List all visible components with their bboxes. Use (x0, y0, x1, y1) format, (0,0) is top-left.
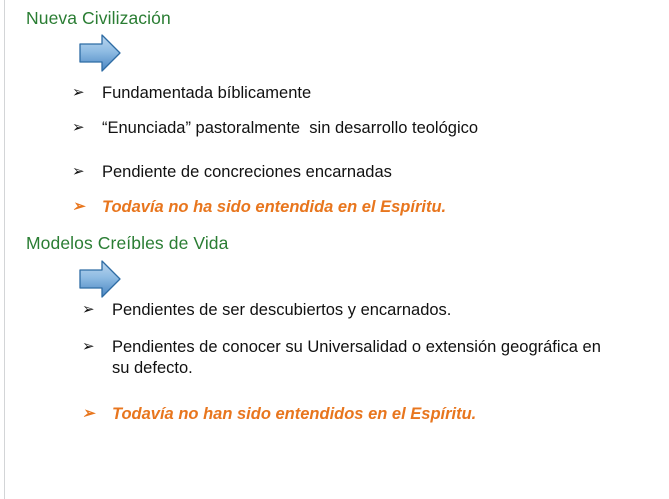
bullet-item: ➢ Fundamentada bíblicamente (72, 83, 632, 104)
arrowhead-bullet-icon: ➢ (72, 197, 102, 217)
section-heading-modelos-creibles-de-vida: Modelos Creíbles de Vida (26, 234, 228, 253)
right-arrow-icon-2 (78, 258, 122, 300)
bullet-item: ➢ Pendientes de ser descubiertos y encar… (82, 300, 642, 321)
bullet-text: Pendientes de ser descubiertos y encarna… (112, 300, 642, 321)
arrowhead-bullet-icon: ➢ (72, 118, 102, 138)
bullet-item-accent: ➢ Todavía no ha sido entendida en el Esp… (72, 197, 632, 218)
bullet-text: Pendiente de concreciones encarnadas (102, 162, 632, 183)
bullet-text: Pendientes de conocer su Universalidad o… (112, 337, 612, 379)
bullet-item: ➢ Pendientes de conocer su Universalidad… (82, 337, 612, 379)
bullet-item: ➢ “Enunciada” pastoralmente sin desarrol… (72, 118, 652, 139)
bullet-text: Fundamentada bíblicamente (102, 83, 632, 104)
bullet-text: “Enunciada” pastoralmente sin desarrollo… (102, 118, 652, 139)
left-edge-rule (4, 0, 5, 499)
bullet-text: Todavía no ha sido entendida en el Espír… (102, 197, 632, 218)
arrowhead-bullet-icon: ➢ (82, 337, 112, 357)
arrowhead-bullet-icon: ➢ (72, 162, 102, 182)
slide-canvas: Nueva Civilización ➢ Fundamentada bíblic… (0, 0, 669, 499)
arrowhead-bullet-icon: ➢ (82, 404, 112, 424)
arrowhead-bullet-icon: ➢ (72, 83, 102, 103)
bullet-text: Todavía no han sido entendidos en el Esp… (112, 404, 642, 425)
bullet-item-accent: ➢ Todavía no han sido entendidos en el E… (82, 404, 642, 425)
bullet-item: ➢ Pendiente de concreciones encarnadas (72, 162, 632, 183)
section-heading-nueva-civilizacion: Nueva Civilización (26, 9, 171, 28)
arrowhead-bullet-icon: ➢ (82, 300, 112, 320)
right-arrow-icon-1 (78, 32, 122, 74)
